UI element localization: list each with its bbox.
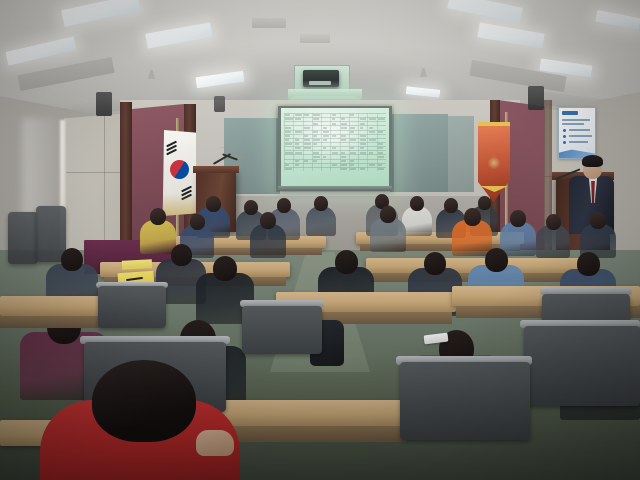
audience-person-head (410, 196, 424, 211)
audience-person-head (590, 212, 606, 229)
audience-person-head (335, 250, 358, 274)
audience-person-head (546, 214, 561, 230)
audience-person-head (277, 198, 291, 213)
foreground-person-head (92, 360, 196, 442)
audience-person-head (61, 248, 83, 271)
audience-person-torso (370, 218, 406, 252)
seminar-room-photo: ⸺⸺⸺ ⸺⸺ (0, 0, 640, 480)
audience-person (306, 196, 336, 236)
audience-person-head (314, 196, 328, 211)
foreground-person-hand (196, 430, 234, 456)
chair (98, 286, 166, 328)
chair (242, 306, 322, 354)
audience-person (250, 212, 286, 258)
audience-person-head (260, 212, 276, 229)
yellow-handout-paper (122, 259, 152, 270)
audience-person-head (171, 244, 192, 266)
audience-person-head (190, 214, 205, 230)
audience-person-head (213, 256, 237, 281)
audience-person-head (380, 206, 396, 223)
chair (400, 362, 530, 440)
audience-person-head (510, 210, 526, 227)
audience-person-head (577, 252, 600, 276)
chair (524, 326, 640, 406)
audience-person-head (485, 248, 508, 272)
audience-person-head (150, 208, 166, 225)
audience-person-head (424, 252, 446, 275)
audience-person-torso (250, 224, 286, 258)
audience-person (402, 196, 432, 236)
audience-person (370, 206, 406, 252)
audience-person-head (206, 196, 221, 212)
audience-person-head (464, 208, 481, 226)
